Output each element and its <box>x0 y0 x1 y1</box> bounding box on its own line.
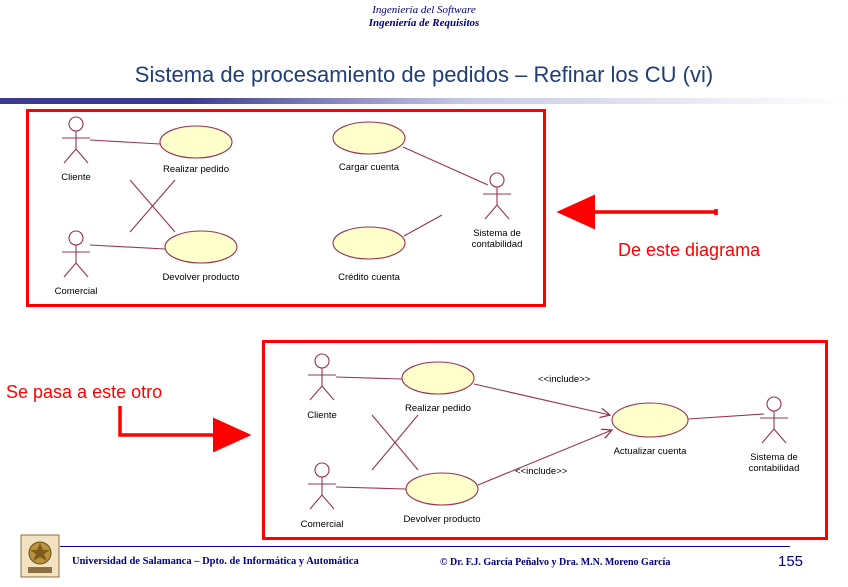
actor-cliente-top <box>62 117 90 163</box>
actor-sistema-contabilidad-top <box>483 173 511 219</box>
annotation-arrow-bottom <box>120 406 248 435</box>
actor-cliente-bottom <box>308 354 336 400</box>
usecase-actualizar-cuenta <box>612 403 688 437</box>
usecase-cargar-cuenta-top <box>333 122 405 154</box>
label-actor-sistema-contabilidad-bottom-line1: Sistema de <box>734 452 814 463</box>
actor-sistema-contabilidad-bottom <box>760 397 788 443</box>
footer-center-text: © Dr. F.J. García Peñalvo y Dra. M.N. Mo… <box>440 557 670 568</box>
label-include-2: <<include>> <box>515 466 567 477</box>
label-actor-cliente-top: Cliente <box>36 172 116 183</box>
usecase-credito-cuenta-top <box>333 227 405 259</box>
usecase-realizar-pedido-bottom <box>402 362 474 394</box>
label-usecase-devolver-producto-top: Devolver producto <box>151 272 251 283</box>
label-usecase-devolver-producto-bottom: Devolver producto <box>392 514 492 525</box>
university-emblem-icon <box>20 534 60 578</box>
label-actor-comercial-top: Comercial <box>36 286 116 297</box>
label-actor-cliente-bottom: Cliente <box>282 410 362 421</box>
label-usecase-credito-cuenta-top: Crédito cuenta <box>319 272 419 283</box>
footer-left-text: Universidad de Salamanca – Dpto. de Info… <box>72 556 359 567</box>
label-actor-sistema-contabilidad-bottom-line2: contabilidad <box>734 463 814 474</box>
label-actor-comercial-bottom: Comercial <box>282 519 362 530</box>
annotation-de-este-diagrama: De este diagrama <box>618 240 760 261</box>
label-usecase-realizar-pedido-bottom: Realizar pedido <box>388 403 488 414</box>
annotation-arrow-top <box>560 209 717 215</box>
usecase-devolver-producto-bottom <box>406 473 478 505</box>
usecase-devolver-producto-top <box>165 231 237 263</box>
annotation-se-pasa-a-este-otro: Se pasa a este otro <box>6 382 162 403</box>
label-actor-sistema-contabilidad-top-line2: contabilidad <box>457 239 537 250</box>
usecase-realizar-pedido-top <box>160 126 232 158</box>
label-usecase-cargar-cuenta-top: Cargar cuenta <box>319 162 419 173</box>
actor-comercial-bottom <box>308 463 336 509</box>
label-include-1: <<include>> <box>538 374 590 385</box>
page-number: 155 <box>778 553 803 570</box>
label-usecase-actualizar-cuenta: Actualizar cuenta <box>600 446 700 457</box>
label-usecase-realizar-pedido-top: Realizar pedido <box>146 164 246 175</box>
diagram-vector-layer <box>0 0 848 587</box>
footer-divider <box>60 546 790 547</box>
label-actor-sistema-contabilidad-top-line1: Sistema de <box>457 228 537 239</box>
actor-comercial-top <box>62 231 90 277</box>
top-diagram-uml <box>62 117 511 277</box>
